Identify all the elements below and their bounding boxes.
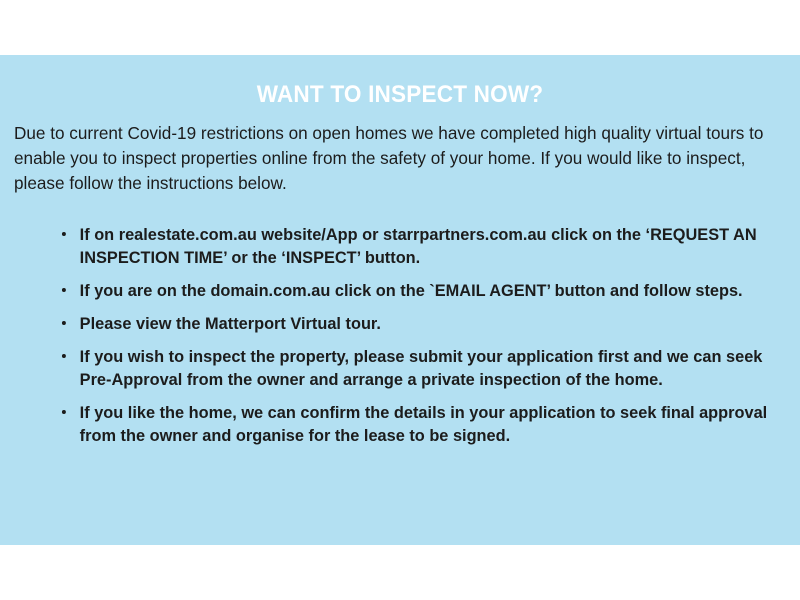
bullet-dot-icon xyxy=(62,232,66,236)
list-item: If on realestate.com.au website/App or s… xyxy=(58,223,767,269)
list-item: If you wish to inspect the property, ple… xyxy=(58,345,767,391)
info-panel: WANT TO INSPECT NOW? Due to current Covi… xyxy=(0,55,800,545)
list-item-label: If you wish to inspect the property, ple… xyxy=(80,345,768,391)
poster-canvas: WANT TO INSPECT NOW? Due to current Covi… xyxy=(0,0,800,600)
list-item-label: If you like the home, we can confirm the… xyxy=(80,401,768,447)
bullet-dot-icon xyxy=(62,321,66,325)
list-item: If you like the home, we can confirm the… xyxy=(58,401,767,447)
list-item: Please view the Matterport Virtual tour. xyxy=(58,312,767,335)
bullet-dot-icon xyxy=(62,410,66,414)
list-item-label: If you are on the domain.com.au click on… xyxy=(80,279,768,302)
bullet-dot-icon xyxy=(62,354,66,358)
page-title: WANT TO INSPECT NOW? xyxy=(24,81,776,109)
list-item-label: If on realestate.com.au website/App or s… xyxy=(80,223,768,269)
intro-paragraph: Due to current Covid-19 restrictions on … xyxy=(14,121,773,196)
list-item-label: Please view the Matterport Virtual tour. xyxy=(80,312,768,335)
bullet-dot-icon xyxy=(62,288,66,292)
list-item: If you are on the domain.com.au click on… xyxy=(58,279,767,302)
instructions-list: If on realestate.com.au website/App or s… xyxy=(58,223,778,457)
